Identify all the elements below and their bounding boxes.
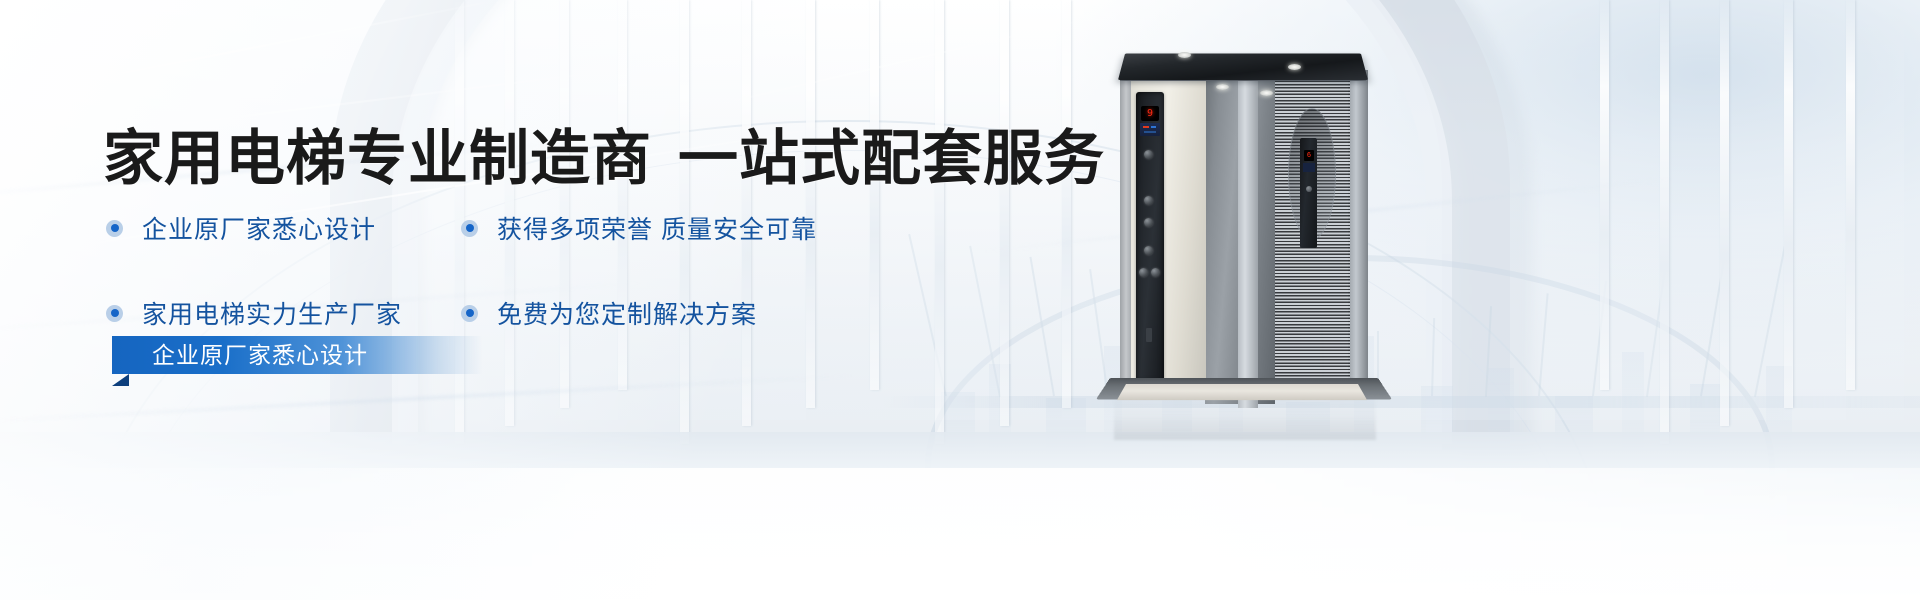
feature-label: 免费为您定制解决方案	[497, 295, 757, 331]
feature-row: 企业原厂家悉心设计 获得多项荣誉 质量安全可靠	[106, 210, 866, 246]
promo-banner: 6 9	[0, 0, 1920, 600]
banner-content: 家用电梯专业制造商一站式配套服务 企业原厂家悉心设计 获得多项荣誉 质量安全可靠…	[0, 0, 1920, 600]
highlight-ribbon-tag: 企业原厂家悉心设计	[112, 336, 482, 374]
bullet-dot-icon	[461, 220, 478, 237]
ribbon-tag-label: 企业原厂家悉心设计	[152, 336, 368, 374]
headline-primary: 家用电梯专业制造商	[103, 125, 652, 192]
bullet-dot-icon	[106, 305, 123, 322]
feature-item-3: 家用电梯实力生产厂家	[106, 295, 461, 331]
feature-label: 获得多项荣誉 质量安全可靠	[497, 210, 817, 246]
feature-list: 企业原厂家悉心设计 获得多项荣誉 质量安全可靠 家用电梯实力生产厂家 免费为您定…	[106, 210, 866, 331]
feature-item-4: 免费为您定制解决方案	[461, 295, 757, 331]
bullet-dot-icon	[461, 305, 478, 322]
bullet-dot-icon	[106, 220, 123, 237]
feature-label: 企业原厂家悉心设计	[142, 210, 376, 246]
feature-item-2: 获得多项荣誉 质量安全可靠	[461, 210, 817, 246]
headline-secondary: 一站式配套服务	[678, 125, 1105, 192]
page-title: 家用电梯专业制造商一站式配套服务	[103, 110, 1105, 197]
feature-item-1: 企业原厂家悉心设计	[106, 210, 461, 246]
feature-row: 家用电梯实力生产厂家 免费为您定制解决方案	[106, 295, 866, 331]
feature-label: 家用电梯实力生产厂家	[142, 295, 402, 331]
ribbon-fold-corner	[112, 374, 129, 386]
